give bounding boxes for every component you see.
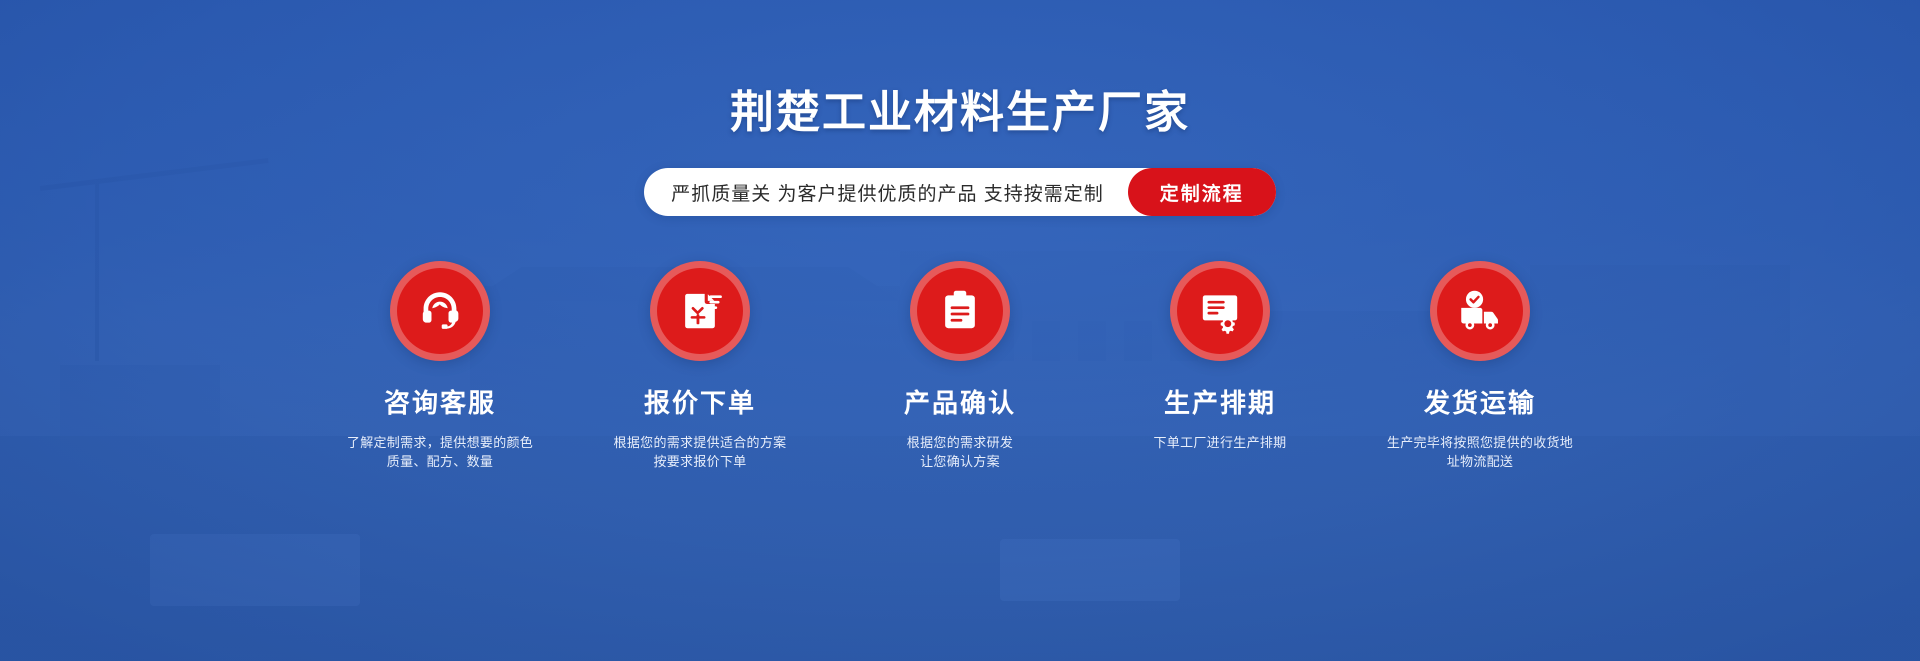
step-description-line: 根据您的需求研发 — [907, 435, 1013, 450]
custom-process-button[interactable]: 定制流程 — [1128, 168, 1276, 216]
step-icon-badge — [650, 261, 750, 361]
step-description: 生产完毕将按照您提供的收货地 址物流配送 — [1387, 433, 1573, 471]
clipboard-check-icon — [935, 286, 985, 336]
process-step-shipping[interactable]: 发货运输 生产完毕将按照您提供的收货地 址物流配送 — [1350, 261, 1610, 471]
step-description-line: 了解定制需求，提供想要的颜色 — [347, 435, 533, 450]
step-description-line: 根据您的需求提供适合的方案 — [614, 435, 787, 450]
step-description: 下单工厂进行生产排期 — [1153, 433, 1286, 452]
process-step-quote[interactable]: 报价下单 根据您的需求提供适合的方案 按要求报价下单 — [570, 261, 830, 471]
step-icon-badge — [1430, 261, 1530, 361]
step-title: 咨询客服 — [384, 383, 496, 420]
headset-icon — [415, 286, 465, 336]
step-icon-badge — [910, 261, 1010, 361]
process-step-confirm[interactable]: 产品确认 根据您的需求研发 让您确认方案 — [830, 261, 1090, 471]
step-title: 报价下单 — [644, 383, 756, 420]
process-steps: 咨询客服 了解定制需求，提供想要的颜色 质量、配方、数量 — [310, 261, 1610, 471]
page-title: 荆楚工业材料生产厂家 — [730, 91, 1190, 135]
process-step-consult[interactable]: 咨询客服 了解定制需求，提供想要的颜色 质量、配方、数量 — [310, 261, 570, 471]
step-description: 了解定制需求，提供想要的颜色 质量、配方、数量 — [347, 433, 533, 471]
step-description: 根据您的需求提供适合的方案 按要求报价下单 — [614, 433, 787, 471]
tagline-text: 严抓质量关 为客户提供优质的产品 支持按需定制 — [671, 179, 1128, 206]
tagline-pill: 严抓质量关 为客户提供优质的产品 支持按需定制 定制流程 — [644, 168, 1276, 216]
banner-content: 荆楚工业材料生产厂家 严抓质量关 为客户提供优质的产品 支持按需定制 定制流程 — [0, 0, 1920, 661]
step-icon-badge — [390, 261, 490, 361]
step-description-line: 质量、配方、数量 — [387, 454, 493, 469]
hero-banner: 荆楚工业材料生产厂家 严抓质量关 为客户提供优质的产品 支持按需定制 定制流程 — [0, 0, 1920, 661]
step-description-line: 址物流配送 — [1447, 454, 1514, 469]
invoice-icon — [675, 286, 725, 336]
delivery-truck-icon — [1455, 286, 1505, 336]
step-title: 发货运输 — [1424, 383, 1536, 420]
step-title: 产品确认 — [904, 383, 1016, 420]
step-description: 根据您的需求研发 让您确认方案 — [907, 433, 1013, 471]
process-step-schedule[interactable]: 生产排期 下单工厂进行生产排期 — [1090, 261, 1350, 452]
step-icon-badge — [1170, 261, 1270, 361]
document-gear-icon — [1195, 286, 1245, 336]
step-description-line: 按要求报价下单 — [653, 454, 746, 469]
step-description-line: 下单工厂进行生产排期 — [1153, 435, 1286, 450]
step-description-line: 让您确认方案 — [920, 454, 1000, 469]
step-title: 生产排期 — [1164, 383, 1276, 420]
step-description-line: 生产完毕将按照您提供的收货地 — [1387, 435, 1573, 450]
